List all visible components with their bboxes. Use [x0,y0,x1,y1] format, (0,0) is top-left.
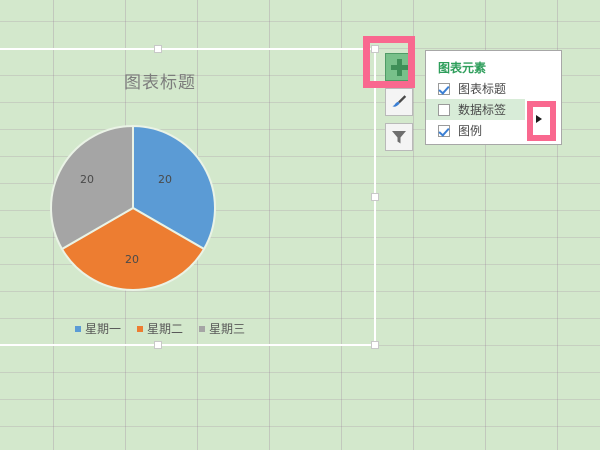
chart-element-row-legend[interactable]: 图例 [426,120,563,141]
chart-element-row-data-labels[interactable]: 数据标签 [426,99,525,120]
checkbox-legend[interactable] [438,125,450,137]
chart-elements-button[interactable] [385,53,413,81]
chart-title[interactable]: 图表标题 [0,68,378,93]
legend-swatch-icon [75,326,81,332]
chart-element-label: 图表标题 [458,80,506,97]
funnel-icon [389,127,409,147]
pie-plot-area[interactable]: 20 20 20 [50,125,216,291]
pie-data-label: 20 [80,173,94,186]
chevron-right-icon[interactable] [536,115,542,123]
legend-swatch-icon [137,326,143,332]
resize-handle-top-right[interactable] [371,45,379,53]
pie-data-label: 20 [158,173,172,186]
chart-object[interactable]: 图表标题 20 20 20 星期一 星期二 星期三 [0,48,376,346]
resize-handle-right-middle[interactable] [371,193,379,201]
legend-item[interactable]: 星期二 [137,320,183,337]
checkbox-chart-title[interactable] [438,83,450,95]
pie-chart[interactable] [50,125,216,291]
chart-element-label: 图例 [458,122,482,139]
chart-element-row-title[interactable]: 图表标题 [426,78,563,99]
pie-data-label: 20 [125,253,139,266]
chart-filters-button[interactable] [385,123,413,151]
chart-styles-button[interactable] [385,88,413,116]
legend-item[interactable]: 星期一 [75,320,121,337]
legend-item[interactable]: 星期三 [199,320,245,337]
plus-icon [391,65,408,70]
legend-label: 星期三 [209,320,245,337]
resize-handle-bottom-middle[interactable] [154,341,162,349]
legend-swatch-icon [199,326,205,332]
chart-legend[interactable]: 星期一 星期二 星期三 [0,320,378,337]
chart-elements-list[interactable]: 图表标题 数据标签 图例 [426,78,563,141]
chart-side-toolbar[interactable] [385,53,413,158]
chart-elements-panel[interactable]: 图表元素 图表标题 数据标签 图例 [425,50,562,145]
paintbrush-icon [389,92,409,112]
checkbox-data-labels[interactable] [438,104,450,116]
legend-label: 星期二 [147,320,183,337]
chart-element-label: 数据标签 [458,101,506,118]
panel-title: 图表元素 [438,59,486,76]
resize-handle-bottom-right[interactable] [371,341,379,349]
resize-handle-top-middle[interactable] [154,45,162,53]
legend-label: 星期一 [85,320,121,337]
